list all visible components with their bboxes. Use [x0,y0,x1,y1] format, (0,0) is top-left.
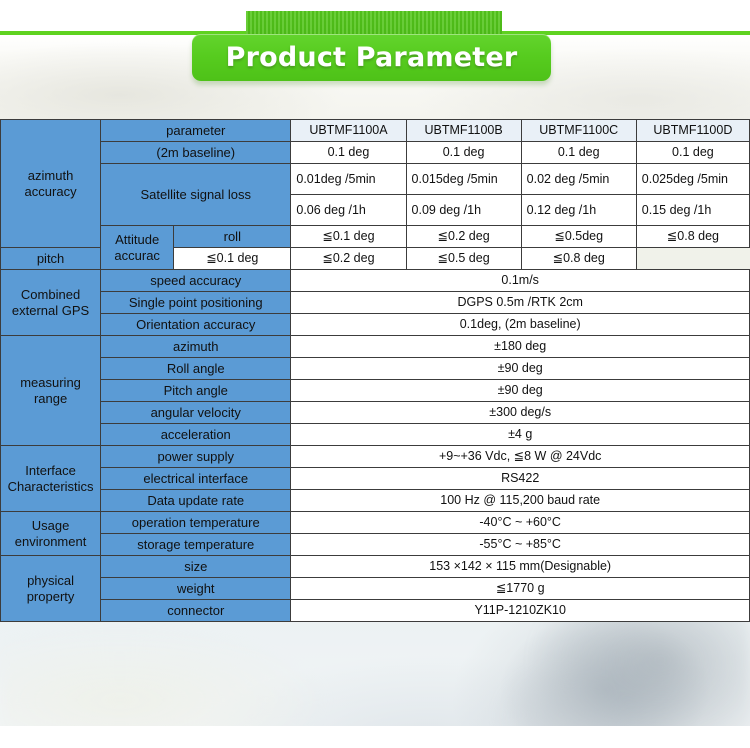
cell-value: ±180 deg [291,336,750,358]
model-header-b: UBTMF1100B [406,120,521,142]
table-row: electrical interface RS422 [1,468,750,490]
table-row: Single point positioning DGPS 0.5m /RTK … [1,292,750,314]
cell-value: +9~+36 Vdc, ≦8 W @ 24Vdc [291,446,750,468]
cell-value: 0.12 deg /1h [521,195,636,226]
row-label-connector: connector [101,600,291,622]
row-label-satellite-signal-loss: Satellite signal loss [101,164,291,226]
row-label-weight: weight [101,578,291,600]
product-parameter-title-banner: Product Parameter [192,34,551,81]
cell-value: ≦0.5 deg [406,248,521,270]
table-row: measuring range azimuth ±180 deg [1,336,750,358]
cell-value: -55°C ~ +85°C [291,534,750,556]
cell-value: 0.09 deg /1h [406,195,521,226]
table-row: Usage environment operation temperature … [1,512,750,534]
cell-value: 0.1 deg [406,142,521,164]
row-label-azimuth: azimuth [101,336,291,358]
table-row: storage temperature -55°C ~ +85°C [1,534,750,556]
cell-value: 0.02 deg /5min [521,164,636,195]
model-header-d: UBTMF1100D [636,120,749,142]
table-row: Roll angle ±90 deg [1,358,750,380]
product-parameter-table: azimuth accuracy parameter UBTMF1100A UB… [0,119,750,622]
row-label-storage-temperature: storage temperature [101,534,291,556]
row-label-operation-temperature: operation temperature [101,512,291,534]
table-row: (2m baseline) 0.1 deg 0.1 deg 0.1 deg 0.… [1,142,750,164]
row-label-orientation-accuracy: Orientation accuracy [101,314,291,336]
product-parameter-page: Product Parameter azimuth accuracy param… [0,0,750,748]
table-row: connector Y11P-1210ZK10 [1,600,750,622]
cell-value: ≦0.2 deg [291,248,406,270]
page-title: Product Parameter [226,42,518,73]
table-row: acceleration ±4 g [1,424,750,446]
table-row: Interface Characteristics power supply +… [1,446,750,468]
table-row-header: azimuth accuracy parameter UBTMF1100A UB… [1,120,750,142]
cell-value: 0.1 deg [636,142,749,164]
row-label-pitch-angle: Pitch angle [101,380,291,402]
cell-value: DGPS 0.5m /RTK 2cm [291,292,750,314]
cell-value: 0.025deg /5min [636,164,749,195]
row-label-angular-velocity: angular velocity [101,402,291,424]
cell-value: 0.15 deg /1h [636,195,749,226]
cell-value: ≦0.5deg [521,226,636,248]
table-row: Pitch angle ±90 deg [1,380,750,402]
subgroup-attitude-accurac: Attitude accurac [101,226,174,270]
cell-value: 0.1deg, (2m baseline) [291,314,750,336]
row-label-speed-accuracy: speed accuracy [101,270,291,292]
cell-value: RS422 [291,468,750,490]
table-row: Data update rate 100 Hz @ 115,200 baud r… [1,490,750,512]
group-usage-environment: Usage environment [1,512,101,556]
group-physical-property: physical property [1,556,101,622]
group-azimuth-accuracy: azimuth accuracy [1,120,101,248]
group-interface-characteristics: Interface Characteristics [1,446,101,512]
row-label-power-supply: power supply [101,446,291,468]
table-row: Satellite signal loss 0.01deg /5min 0.01… [1,164,750,195]
group-measuring-range: measuring range [1,336,101,446]
cell-value: ≦0.8 deg [521,248,636,270]
green-tab-accent [246,11,502,35]
header-parameter-label: parameter [101,120,291,142]
cell-value: 100 Hz @ 115,200 baud rate [291,490,750,512]
cell-value: ≦0.1 deg [291,226,406,248]
table-row: Attitude accurac roll ≦0.1 deg ≦0.2 deg … [1,226,750,248]
row-label-data-update-rate: Data update rate [101,490,291,512]
table-row: physical property size 153 ×142 × 115 mm… [1,556,750,578]
table-row: Combined external GPS speed accuracy 0.1… [1,270,750,292]
row-label-electrical-interface: electrical interface [101,468,291,490]
cell-value: 0.015deg /5min [406,164,521,195]
cell-value: 0.06 deg /1h [291,195,406,226]
cell-value: ≦0.1 deg [174,248,291,270]
cell-value: Y11P-1210ZK10 [291,600,750,622]
cell-value: ≦1770 g [291,578,750,600]
row-label-size: size [101,556,291,578]
cell-value: -40°C ~ +60°C [291,512,750,534]
cell-value: 0.1 deg [521,142,636,164]
model-header-a: UBTMF1100A [291,120,406,142]
cell-value: ±300 deg/s [291,402,750,424]
table-row: weight ≦1770 g [1,578,750,600]
cell-value: 0.1 deg [291,142,406,164]
background-bottom-strip [0,726,750,748]
cell-value: ±4 g [291,424,750,446]
model-header-c: UBTMF1100C [521,120,636,142]
table-row: Orientation accuracy 0.1deg, (2m baselin… [1,314,750,336]
cell-value: 0.01deg /5min [291,164,406,195]
group-combined-external-gps: Combined external GPS [1,270,101,336]
row-label-2m-baseline: (2m baseline) [101,142,291,164]
cell-value: ±90 deg [291,358,750,380]
row-label-roll: roll [174,226,291,248]
table-row: angular velocity ±300 deg/s [1,402,750,424]
row-label-roll-angle: Roll angle [101,358,291,380]
cell-value: ≦0.2 deg [406,226,521,248]
row-label-acceleration: acceleration [101,424,291,446]
cell-value: 0.1m/s [291,270,750,292]
row-label-pitch: pitch [1,248,101,270]
row-label-single-point-positioning: Single point positioning [101,292,291,314]
cell-value: ±90 deg [291,380,750,402]
cell-value: 153 ×142 × 115 mm(Designable) [291,556,750,578]
cell-value: ≦0.8 deg [636,226,749,248]
